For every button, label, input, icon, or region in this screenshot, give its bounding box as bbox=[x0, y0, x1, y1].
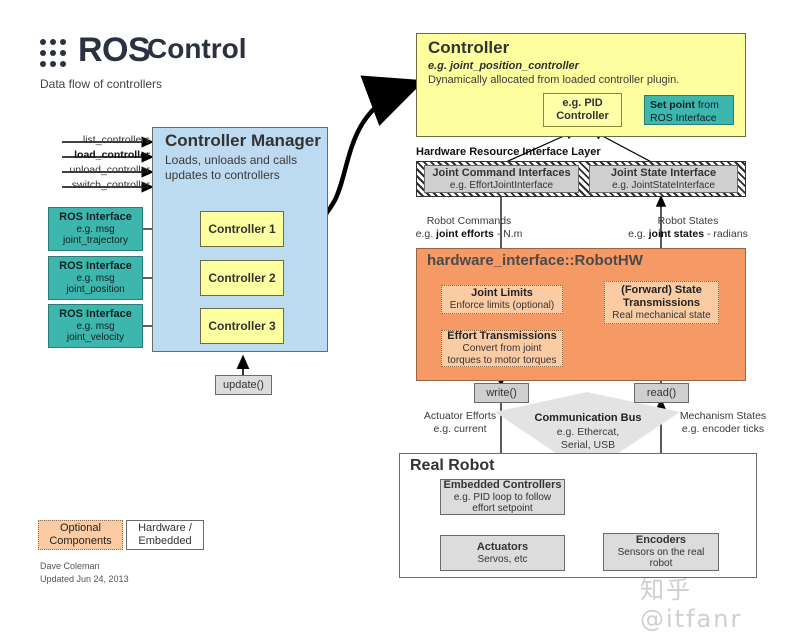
controller-block-subtitle: e.g. joint_position_controller bbox=[428, 60, 579, 72]
joint-command-sub: e.g. EffortJointInterface bbox=[450, 180, 553, 192]
set-point-bold: Set point bbox=[650, 99, 695, 111]
legend-optional-components: Optional Components bbox=[38, 520, 123, 550]
state-trans-line1: (Forward) State bbox=[621, 284, 702, 297]
legend-hardware-line2: Embedded bbox=[138, 535, 191, 548]
legend-hardware-embedded: Hardware / Embedded bbox=[126, 520, 204, 550]
pid-controller-box[interactable]: e.g. PID Controller bbox=[543, 93, 622, 127]
joint-limits-sub: Enforce limits (optional) bbox=[450, 300, 554, 312]
ros-interface-joint-velocity[interactable]: ROS Interface e.g. msg joint_velocity bbox=[48, 304, 143, 348]
robot-commands-post: - N.m bbox=[494, 228, 523, 240]
mechanism-states-line1: Mechanism States bbox=[680, 410, 766, 422]
ros-dots-logo-icon bbox=[38, 36, 72, 70]
write-call-label: write() bbox=[486, 387, 517, 400]
ros-interface-2-line2: e.g. msg bbox=[76, 321, 114, 333]
communication-bus-line3: Serial, USB bbox=[561, 439, 615, 451]
controller-1-box[interactable]: Controller 1 bbox=[200, 211, 284, 247]
update-call-box[interactable]: update() bbox=[215, 375, 272, 395]
mechanism-states-label: Mechanism States e.g. encoder ticks bbox=[668, 410, 778, 436]
controller-2-label: Controller 2 bbox=[208, 271, 275, 285]
actuators-sub: Servos, etc bbox=[477, 554, 527, 566]
controller-manager-desc-2: updates to controllers bbox=[165, 168, 280, 182]
effort-transmissions-box[interactable]: Effort Transmissions Convert from joint … bbox=[441, 330, 563, 367]
controller-1-label: Controller 1 bbox=[208, 222, 275, 236]
robot-states-label: Robot States e.g. joint states - radians bbox=[613, 215, 763, 241]
encoders-box[interactable]: Encoders Sensors on the real robot bbox=[603, 533, 719, 571]
robot-commands-bold: joint efforts bbox=[436, 228, 494, 240]
joint-state-sub: e.g. JointStateInterface bbox=[612, 180, 715, 192]
robot-commands-pre: e.g. bbox=[416, 228, 436, 240]
hardware-layer-label: Hardware Resource Interface Layer bbox=[416, 146, 601, 158]
ros-interface-0-line2: e.g. msg bbox=[76, 224, 114, 236]
state-transmissions-box[interactable]: (Forward) State Transmissions Real mecha… bbox=[604, 281, 719, 324]
credit-author: Dave Coleman bbox=[40, 560, 129, 573]
embedded-line3: effort setpoint bbox=[472, 503, 532, 515]
robot-states-line1: Robot States bbox=[658, 215, 719, 227]
pid-controller-line2: Controller bbox=[556, 110, 609, 123]
actuator-efforts-label: Actuator Efforts e.g. current bbox=[405, 410, 515, 436]
joint-state-title: Joint State Interface bbox=[611, 167, 716, 180]
effort-trans-line2: Convert from joint bbox=[463, 343, 542, 355]
actuator-efforts-line1: Actuator Efforts bbox=[424, 410, 496, 422]
effort-trans-title: Effort Transmissions bbox=[447, 330, 556, 343]
set-point-rest: from bbox=[695, 99, 719, 111]
robot-hw-heading: hardware_interface::RobotHW bbox=[427, 252, 643, 269]
ros-interface-joint-trajectory[interactable]: ROS Interface e.g. msg joint_trajectory bbox=[48, 207, 143, 251]
actuator-efforts-line2: e.g. current bbox=[433, 423, 486, 435]
joint-limits-box[interactable]: Joint Limits Enforce limits (optional) bbox=[441, 285, 563, 314]
encoders-line2: Sensors on the real bbox=[618, 547, 705, 559]
controller-block-description: Dynamically allocated from loaded contro… bbox=[428, 74, 679, 86]
credit-updated: Updated Jun 24, 2013 bbox=[40, 573, 129, 586]
legend-hardware-line1: Hardware / bbox=[138, 522, 192, 535]
communication-bus-title: Communication Bus bbox=[535, 412, 642, 424]
service-label-switch-controller[interactable]: switch_controller bbox=[0, 179, 150, 191]
communication-bus-label: Communication Bus e.g. Ethercat, Serial,… bbox=[512, 412, 664, 452]
joint-limits-title: Joint Limits bbox=[471, 287, 533, 300]
page-title: Control bbox=[147, 33, 247, 65]
robot-commands-label: Robot Commands e.g. joint efforts - N.m bbox=[404, 215, 534, 241]
encoders-title: Encoders bbox=[636, 534, 686, 547]
ros-interface-0-line3: joint_trajectory bbox=[63, 235, 128, 247]
ros-interface-1-line2: e.g. msg bbox=[76, 273, 114, 285]
state-trans-line2: Transmissions bbox=[623, 297, 700, 310]
ros-interface-1-line3: joint_position bbox=[66, 284, 124, 296]
pid-controller-line1: e.g. PID bbox=[562, 97, 602, 110]
encoders-line3: robot bbox=[650, 558, 673, 570]
ros-interface-2-title: ROS Interface bbox=[59, 308, 132, 321]
mechanism-states-line2: e.g. encoder ticks bbox=[682, 423, 764, 435]
brand-title: ROS bbox=[78, 31, 150, 70]
legend-optional-line1: Optional bbox=[60, 522, 101, 535]
actuators-box[interactable]: Actuators Servos, etc bbox=[440, 535, 565, 571]
write-call-box[interactable]: write() bbox=[474, 383, 529, 403]
set-point-box[interactable]: Set point from ROS Interface bbox=[644, 95, 734, 125]
legend-optional-line2: Components bbox=[49, 535, 111, 548]
read-call-label: read() bbox=[647, 387, 676, 400]
embedded-line2: e.g. PID loop to follow bbox=[454, 492, 551, 504]
communication-bus-line2: e.g. Ethercat, bbox=[557, 426, 619, 438]
robot-states-pre: e.g. bbox=[628, 228, 648, 240]
actuators-title: Actuators bbox=[477, 541, 528, 554]
set-point-line2: ROS Interface bbox=[650, 112, 717, 124]
watermark: 知乎 @itfanr bbox=[640, 570, 800, 633]
ros-interface-2-line3: joint_velocity bbox=[67, 332, 124, 344]
robot-commands-line1: Robot Commands bbox=[427, 215, 512, 227]
joint-state-interface-box[interactable]: Joint State Interface e.g. JointStateInt… bbox=[589, 165, 738, 193]
controller-block-heading: Controller bbox=[428, 38, 509, 58]
service-label-unload-controller[interactable]: unload_controller bbox=[0, 164, 150, 176]
controller-3-label: Controller 3 bbox=[208, 319, 275, 333]
ros-interface-joint-position[interactable]: ROS Interface e.g. msg joint_position bbox=[48, 256, 143, 300]
read-call-box[interactable]: read() bbox=[634, 383, 689, 403]
state-trans-sub: Real mechanical state bbox=[612, 310, 710, 322]
credit-block: Dave Coleman Updated Jun 24, 2013 bbox=[40, 560, 129, 586]
page-subtitle: Data flow of controllers bbox=[40, 77, 162, 91]
service-label-list-controllers[interactable]: list_controllers bbox=[0, 134, 150, 146]
controller-2-box[interactable]: Controller 2 bbox=[200, 260, 284, 296]
joint-command-title: Joint Command Interfaces bbox=[432, 167, 570, 180]
update-call-label: update() bbox=[223, 379, 264, 392]
ros-interface-1-title: ROS Interface bbox=[59, 260, 132, 273]
controller-3-box[interactable]: Controller 3 bbox=[200, 308, 284, 344]
controller-manager-desc-1: Loads, unloads and calls bbox=[165, 153, 297, 167]
robot-states-bold: joint states bbox=[649, 228, 704, 240]
controller-manager-heading: Controller Manager bbox=[165, 131, 321, 151]
embedded-controllers-box[interactable]: Embedded Controllers e.g. PID loop to fo… bbox=[440, 479, 565, 515]
effort-trans-line3: torques to motor torques bbox=[448, 355, 557, 367]
service-label-load-controller[interactable]: load_controller bbox=[0, 149, 150, 161]
ros-interface-0-title: ROS Interface bbox=[59, 211, 132, 224]
embedded-title: Embedded Controllers bbox=[444, 479, 562, 492]
joint-command-interfaces-box[interactable]: Joint Command Interfaces e.g. EffortJoin… bbox=[424, 165, 579, 193]
real-robot-heading: Real Robot bbox=[410, 457, 494, 475]
robot-states-post: - radians bbox=[704, 228, 748, 240]
